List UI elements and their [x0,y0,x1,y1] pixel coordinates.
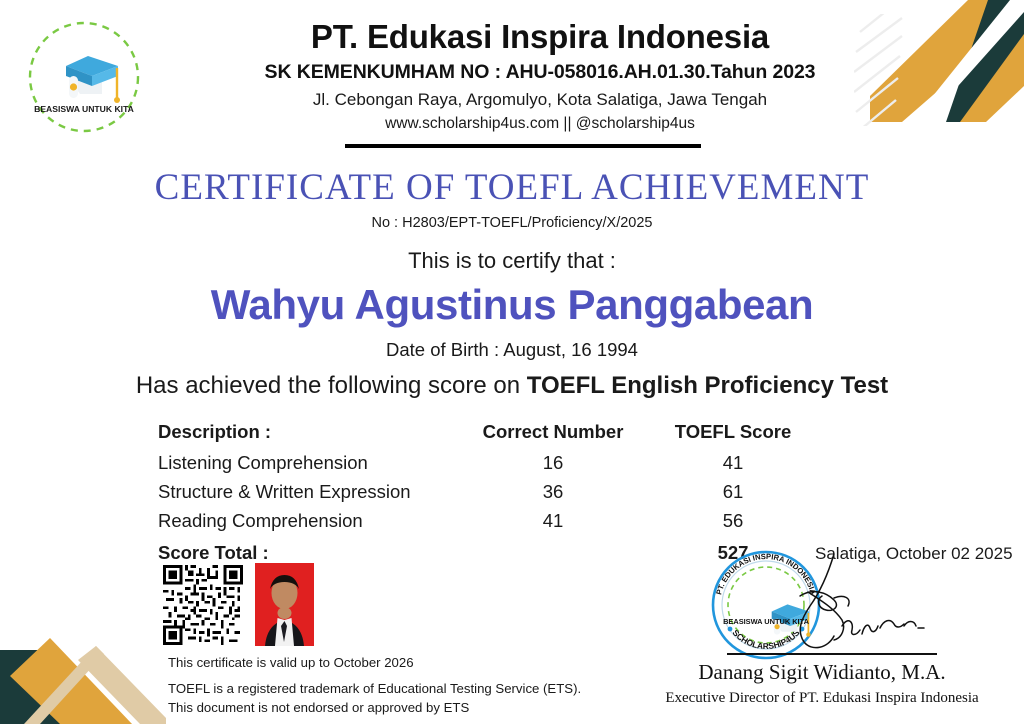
company-name: PT. Edukasi Inspira Indonesia [190,18,890,57]
signature-mark [790,548,940,658]
achievement-prefix: Has achieved the following score on [136,372,527,399]
table-row: Reading Comprehension 41 56 [158,510,818,539]
signer-title: Executive Director of PT. Edukasi Inspir… [620,690,1024,707]
header-divider [345,144,701,148]
row-description: Listening Comprehension [158,452,458,481]
sk-number: SK KEMENKUMHAM NO : AHU-058016.AH.01.30.… [190,61,890,84]
signer-name: Danang Sigit Widianto, M.A. [620,660,1024,685]
row-description: Reading Comprehension [158,510,458,539]
certify-line: This is to certify that : [0,248,1024,274]
column-header-description: Description : [158,421,458,452]
certificate-title: CERTIFICATE OF TOEFL ACHIEVEMENT [0,166,1024,209]
corner-decoration-bottom-left [0,606,172,724]
row-toefl-score: 41 [648,452,818,481]
table-row: Listening Comprehension 16 41 [158,452,818,481]
column-header-toefl-score: TOEFL Score [648,421,818,452]
company-web-contact: www.scholarship4us.com || @scholarship4u… [190,115,890,133]
row-description: Structure & Written Expression [158,481,458,510]
trademark-note-line1: TOEFL is a registered trademark of Educa… [168,679,598,699]
footer-notes: This certificate is valid up to October … [168,653,598,718]
company-address: Jl. Cebongan Raya, Argomulyo, Kota Salat… [190,90,890,110]
achievement-line: Has achieved the following score on TOEF… [0,372,1024,400]
trademark-note-line2: This document is not endorsed or approve… [168,698,598,718]
graduation-cap-icon [66,56,120,103]
id-photo [255,563,314,646]
date-of-birth: Date of Birth : August, 16 1994 [0,339,1024,361]
row-correct-number: 16 [458,452,648,481]
certificate-number: No : H2803/EPT-TOEFL/Proficiency/X/2025 [0,215,1024,231]
table-row: Structure & Written Expression 36 61 [158,481,818,510]
signature-line [727,653,937,655]
achievement-test-name: TOEFL English Proficiency Test [527,372,888,399]
qr-code[interactable] [163,565,243,645]
logo-caption: BEASISWA UNTUK KITA [34,104,134,114]
brand-logo: BEASISWA UNTUK KITA [22,18,146,136]
validity-note: This certificate is valid up to October … [168,653,598,673]
score-total-blank [458,539,648,571]
row-correct-number: 36 [458,481,648,510]
row-toefl-score: 56 [648,510,818,539]
header-block: PT. Edukasi Inspira Indonesia SK KEMENKU… [190,18,890,133]
row-correct-number: 41 [458,510,648,539]
column-header-correct-number: Correct Number [458,421,648,452]
row-toefl-score: 61 [648,481,818,510]
recipient-name: Wahyu Agustinus Panggabean [0,281,1024,329]
table-header-row: Description : Correct Number TOEFL Score [158,421,818,452]
